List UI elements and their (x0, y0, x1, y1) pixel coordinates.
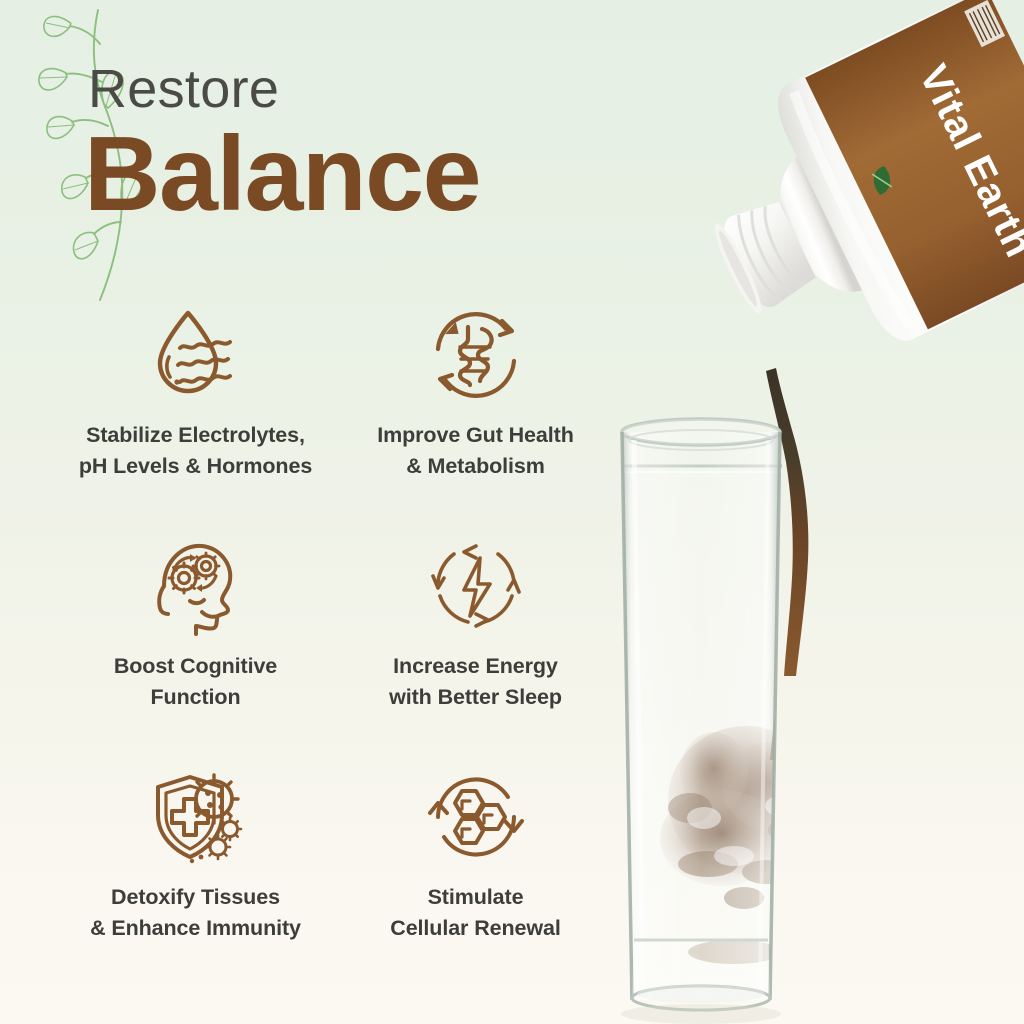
pour-stream (766, 368, 808, 676)
benefit-item: Boost Cognitive Function (52, 527, 339, 758)
product-marketing-banner: Restore Balance Stabilize Elec (0, 0, 1024, 1024)
bottle-brand-label: Vital Earth (911, 58, 1024, 264)
product-bottle: Vital Earth (667, 0, 1024, 398)
hexagon-cells-cycle-icon (424, 758, 528, 876)
lightning-cycle-icon (424, 527, 528, 645)
bottle-neck (708, 195, 819, 318)
benefit-label: Stabilize Electrolytes, pH Levels & Horm… (79, 420, 312, 481)
headline-block: Restore Balance (88, 62, 708, 228)
benefits-grid: Stabilize Electrolytes, pH Levels & Horm… (52, 296, 612, 989)
benefit-label: Boost Cognitive Function (114, 651, 277, 712)
head-gears-icon (144, 527, 248, 645)
benefit-label: Improve Gut Health & Metabolism (377, 420, 574, 481)
benefit-item: Improve Gut Health & Metabolism (339, 296, 612, 527)
benefit-label: Increase Energy with Better Sleep (389, 651, 562, 712)
benefit-label: Detoxify Tissues & Enhance Immunity (90, 882, 301, 943)
headline-line-2: Balance (84, 120, 708, 228)
benefit-item: Increase Energy with Better Sleep (339, 527, 612, 758)
benefit-item: Stimulate Cellular Renewal (339, 758, 612, 989)
water-droplet-waves-icon (144, 296, 248, 414)
headline-line-1: Restore (88, 62, 708, 116)
drinking-glass (620, 419, 824, 1024)
benefit-label: Stimulate Cellular Renewal (390, 882, 560, 943)
benefit-item: Stabilize Electrolytes, pH Levels & Horm… (52, 296, 339, 527)
benefit-item: Detoxify Tissues & Enhance Immunity (52, 758, 339, 989)
shield-cross-germs-icon (144, 758, 248, 876)
intestine-cycle-icon (424, 296, 528, 414)
